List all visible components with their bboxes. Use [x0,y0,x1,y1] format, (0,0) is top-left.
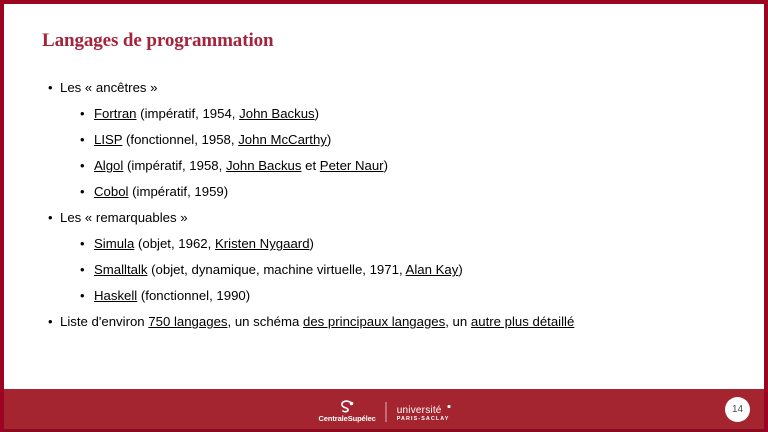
link-smalltalk[interactable]: Smalltalk [94,262,148,277]
list-item-lisp: • LISP (fonctionnel, 1958, John McCarthy… [80,132,764,147]
list-item-label: Algol (impératif, 1958, John Backus et P… [94,158,388,173]
algol-joiner: et [301,158,319,173]
list-item-label: Simula (objet, 1962, Kristen Nygaard) [94,236,314,251]
link-haskell[interactable]: Haskell [94,288,137,303]
link-autre-plus-detaille[interactable]: autre plus détaillé [471,314,574,329]
logo-divider [386,402,387,422]
list-item-simula: • Simula (objet, 1962, Kristen Nygaard) [80,236,764,251]
page-title: Langages de programmation [42,30,273,52]
lisp-details: (fonctionnel, 1958, [122,132,238,147]
bullet-icon: • [80,288,85,303]
lisp-end: ) [327,132,331,147]
list-item-label: Les « remarquables » [60,210,188,225]
list-item-remarquables-heading: • Les « remarquables » [48,210,764,225]
centralesupelec-mark-icon [338,400,357,414]
list-item-liste: • Liste d'environ 750 langages, un schém… [48,314,764,329]
paris-saclay-label: PARIS-SACLAY [397,416,450,423]
liste-pre: Liste d'environ [60,314,148,329]
link-algol[interactable]: Algol [94,158,123,173]
footer-bar: CentraleSupélec université PARIS-SACLAY … [4,389,764,429]
liste-mid2: , un [445,314,471,329]
link-john-backus[interactable]: John Backus [239,106,315,121]
list-item-label: LISP (fonctionnel, 1958, John McCarthy) [94,132,331,147]
cobol-details: (impératif, 1959) [128,184,228,199]
universite-paris-saclay-logo: université PARIS-SACLAY [397,405,450,423]
list-item-label: Fortran (impératif, 1954, John Backus) [94,106,319,121]
footer-logos: CentraleSupélec université PARIS-SACLAY [318,397,449,423]
bullet-icon: • [80,132,85,147]
fortran-details: (impératif, 1954, [137,106,240,121]
algol-details: (impératif, 1958, [123,158,226,173]
link-john-mccarthy[interactable]: John McCarthy [238,132,327,147]
list-item-fortran: • Fortran (impératif, 1954, John Backus) [80,106,764,121]
link-principaux-langages[interactable]: des principaux langages [303,314,445,329]
universite-dot-icon [448,405,451,408]
link-fortran[interactable]: Fortran [94,106,137,121]
simula-end: ) [310,236,314,251]
algol-end: ) [384,158,388,173]
haskell-details: (fonctionnel, 1990) [137,288,250,303]
list-item-label: Les « ancêtres » [60,80,158,95]
bullet-icon: • [80,106,85,121]
list-item-label: Haskell (fonctionnel, 1990) [94,288,250,303]
link-simula[interactable]: Simula [94,236,134,251]
smalltalk-end: ) [458,262,462,277]
slide: Langages de programmation • Les « ancêtr… [0,0,768,432]
list-item-label: Smalltalk (objet, dynamique, machine vir… [94,262,463,277]
list-item-haskell: • Haskell (fonctionnel, 1990) [80,288,764,303]
list-item-ancetres-heading: • Les « ancêtres » [48,80,764,95]
bullet-icon: • [80,158,85,173]
list-item-label: Liste d'environ 750 langages, un schéma … [60,314,574,329]
link-peter-naur[interactable]: Peter Naur [320,158,384,173]
link-john-backus[interactable]: John Backus [226,158,302,173]
list-item-label: Cobol (impératif, 1959) [94,184,228,199]
liste-mid1: , un schéma [228,314,304,329]
centralesupelec-logo: CentraleSupélec [318,400,375,423]
link-cobol[interactable]: Cobol [94,184,128,199]
list-item-algol: • Algol (impératif, 1958, John Backus et… [80,158,764,173]
fortran-end: ) [315,106,319,121]
page-number-badge: 14 [725,397,750,422]
smalltalk-details: (objet, dynamique, machine virtuelle, 19… [148,262,406,277]
slide-body: • Les « ancêtres » • Fortran (impératif,… [4,80,764,340]
link-kristen-nygaard[interactable]: Kristen Nygaard [215,236,310,251]
link-lisp[interactable]: LISP [94,132,122,147]
link-alan-kay[interactable]: Alan Kay [406,262,459,277]
bullet-icon: • [80,184,85,199]
bullet-icon: • [80,236,85,251]
bullet-icon: • [48,80,53,95]
centralesupelec-name: CentraleSupélec [318,415,375,423]
list-item-cobol: • Cobol (impératif, 1959) [80,184,764,199]
list-item-smalltalk: • Smalltalk (objet, dynamique, machine v… [80,262,764,277]
link-750-langages[interactable]: 750 langages [148,314,227,329]
bullet-icon: • [48,314,53,329]
bullet-icon: • [48,210,53,225]
universite-label: université [397,405,450,416]
bullet-icon: • [80,262,85,277]
simula-details: (objet, 1962, [134,236,215,251]
